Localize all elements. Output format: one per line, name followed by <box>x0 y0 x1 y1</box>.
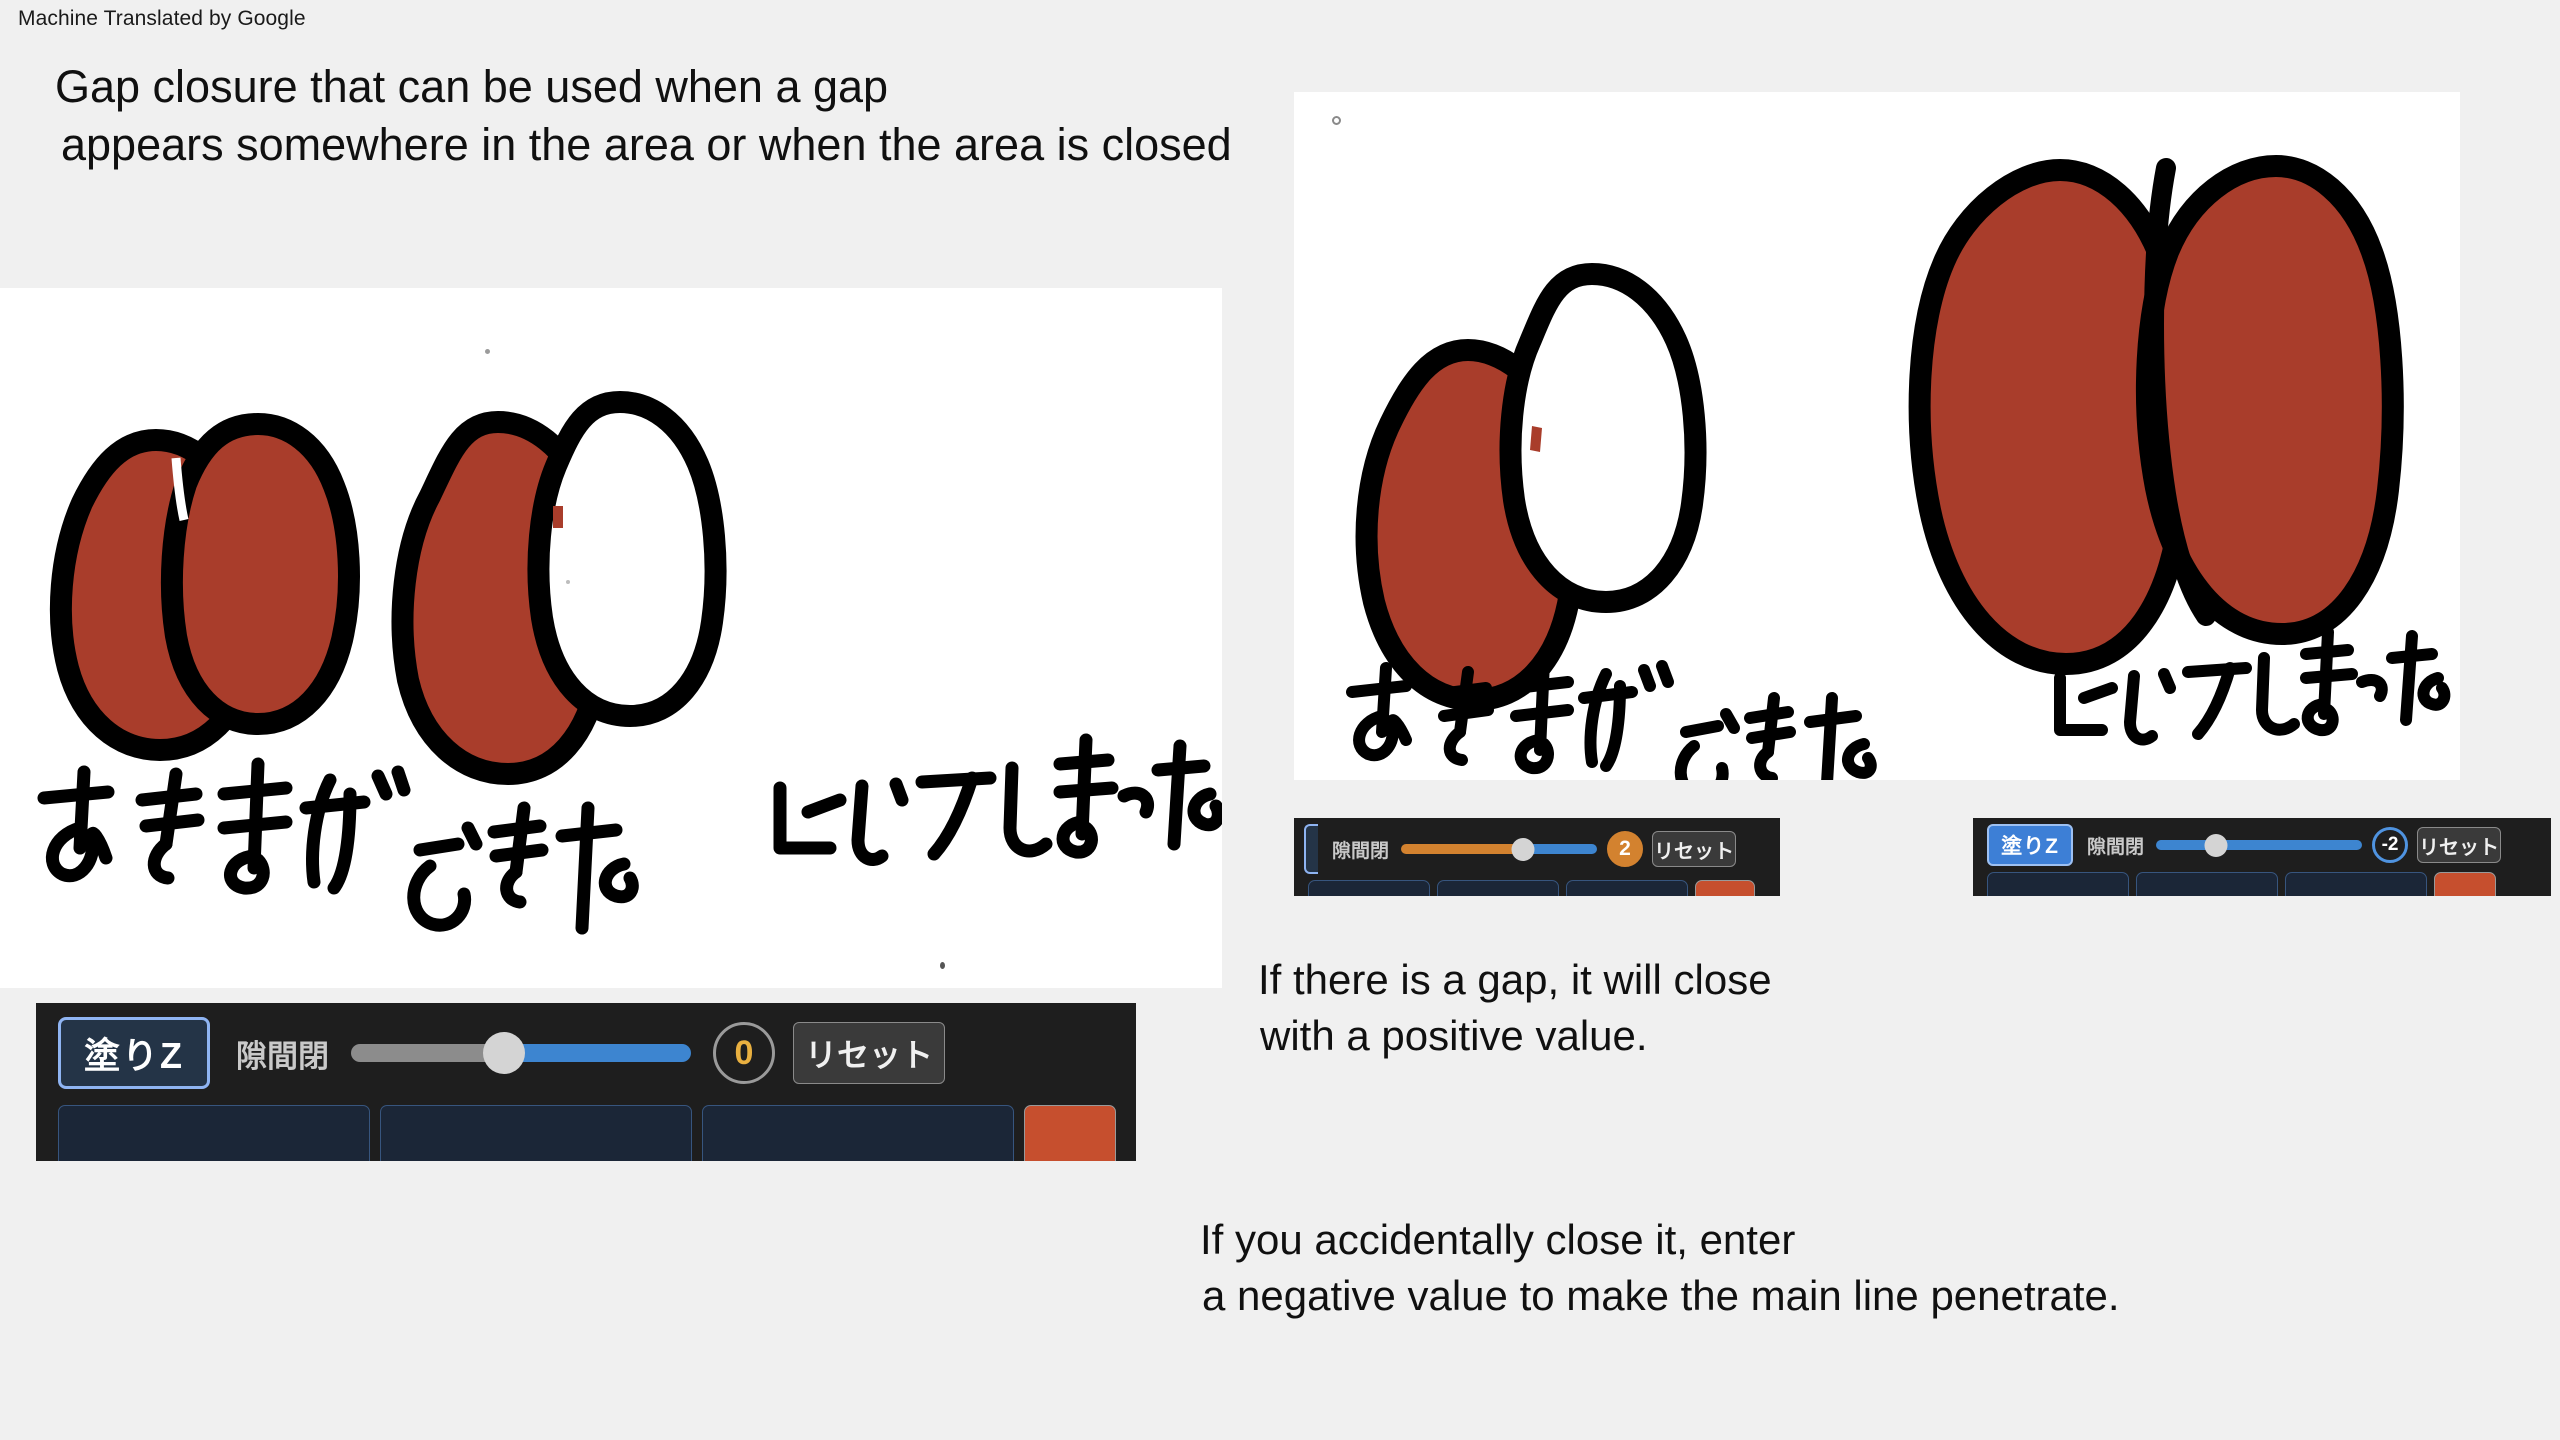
blob-pair-closed <box>403 402 716 774</box>
gap-close-label: 隙間閉 <box>2087 832 2144 859</box>
secondary-chip[interactable] <box>1987 872 2129 896</box>
gap-close-toolbar-neutral[interactable]: 塗りZ 隙間閉 0 リセット <box>36 1003 1136 1161</box>
handwriting-it-closed <box>780 740 1218 859</box>
toolbar-secondary-row <box>1308 880 1780 896</box>
canvas-panel-after <box>1294 92 2460 780</box>
machine-translation-banner: Machine Translated by Google <box>18 7 306 31</box>
slider-track-right <box>504 1044 691 1062</box>
gap-close-toolbar-positive[interactable]: 隙間閉 2 リセット <box>1294 818 1780 896</box>
gap-close-slider[interactable] <box>1401 824 1597 874</box>
gap-close-value-badge: 0 <box>713 1022 775 1084</box>
blob-pair-gap <box>61 424 349 750</box>
cursor-dot-mark-c <box>940 962 945 969</box>
reset-button[interactable]: リセット <box>793 1022 945 1084</box>
fill-z-button[interactable]: 塗りZ <box>58 1017 210 1089</box>
drawing-after <box>1294 92 2460 780</box>
secondary-chip[interactable] <box>1437 880 1559 896</box>
secondary-chip[interactable] <box>2285 872 2427 896</box>
secondary-chip[interactable] <box>1308 880 1430 896</box>
secondary-chip-accent[interactable] <box>1024 1105 1116 1161</box>
secondary-chip[interactable] <box>2136 872 2278 896</box>
slider-knob[interactable] <box>2204 834 2227 857</box>
secondary-chip[interactable] <box>702 1105 1014 1161</box>
toolbar-controls-row: 隙間閉 2 リセット <box>1294 824 1780 874</box>
gap-close-toolbar-negative[interactable]: 塗りZ 隙間閉 -2 リセット <box>1973 818 2551 896</box>
secondary-chip[interactable] <box>58 1105 370 1161</box>
slider-knob[interactable] <box>483 1032 525 1074</box>
toolbar-controls-row: 塗りZ 隙間閉 -2 リセット <box>1973 824 2551 866</box>
canvas-panel-before <box>0 288 1222 988</box>
slider-track <box>2156 840 2362 850</box>
reset-button[interactable]: リセット <box>1652 831 1736 867</box>
machine-translation-banner-label: Machine Translated by Google <box>18 7 306 30</box>
slider-knob[interactable] <box>1511 838 1534 861</box>
fill-z-button-edge[interactable] <box>1304 824 1318 874</box>
paragraph-negative-line-1: If you accidentally close it, enter <box>1200 1212 2500 1268</box>
paragraph-negative-line-2: a negative value to make the main line p… <box>1200 1268 2500 1324</box>
brush-cursor-icon <box>1332 116 1341 125</box>
handwriting-gap-created <box>44 764 632 928</box>
secondary-chip-accent[interactable] <box>2434 872 2496 896</box>
paragraph-positive-value: If there is a gap, it will close with a … <box>1258 952 2158 1064</box>
slider-track-left <box>351 1044 504 1062</box>
secondary-chip-accent[interactable] <box>1695 880 1755 896</box>
slider-track <box>1401 844 1597 854</box>
toolbar-controls-row: 塗りZ 隙間閉 0 リセット <box>36 1017 1136 1089</box>
gap-close-label: 隙間閉 <box>236 1031 329 1076</box>
paragraph-positive-line-2: with a positive value. <box>1258 1008 2158 1064</box>
secondary-chip[interactable] <box>380 1105 692 1161</box>
gap-close-slider[interactable] <box>2156 824 2362 866</box>
cursor-dot-mark-b <box>566 580 570 584</box>
slider-track-right <box>2216 840 2362 850</box>
paragraph-positive-line-1: If there is a gap, it will close <box>1258 952 2158 1008</box>
toolbar-secondary-row <box>1987 872 2551 896</box>
reset-button[interactable]: リセット <box>2417 827 2501 863</box>
gap-close-slider[interactable] <box>351 1017 691 1089</box>
cursor-dot-mark-a <box>485 349 490 354</box>
drawing-before <box>0 288 1222 988</box>
blob-pair-negative <box>1920 166 2393 664</box>
secondary-chip[interactable] <box>1566 880 1688 896</box>
gap-close-value-badge: -2 <box>2372 827 2408 863</box>
toolbar-secondary-row <box>58 1105 1136 1161</box>
blob-pair-positive <box>1367 274 1696 700</box>
gap-close-label: 隙間閉 <box>1332 836 1389 863</box>
gap-close-value-badge: 2 <box>1607 831 1643 867</box>
paragraph-negative-value: If you accidentally close it, enter a ne… <box>1200 1212 2500 1324</box>
slider-track-left <box>1401 844 1523 854</box>
fill-z-button[interactable]: 塗りZ <box>1987 824 2073 866</box>
